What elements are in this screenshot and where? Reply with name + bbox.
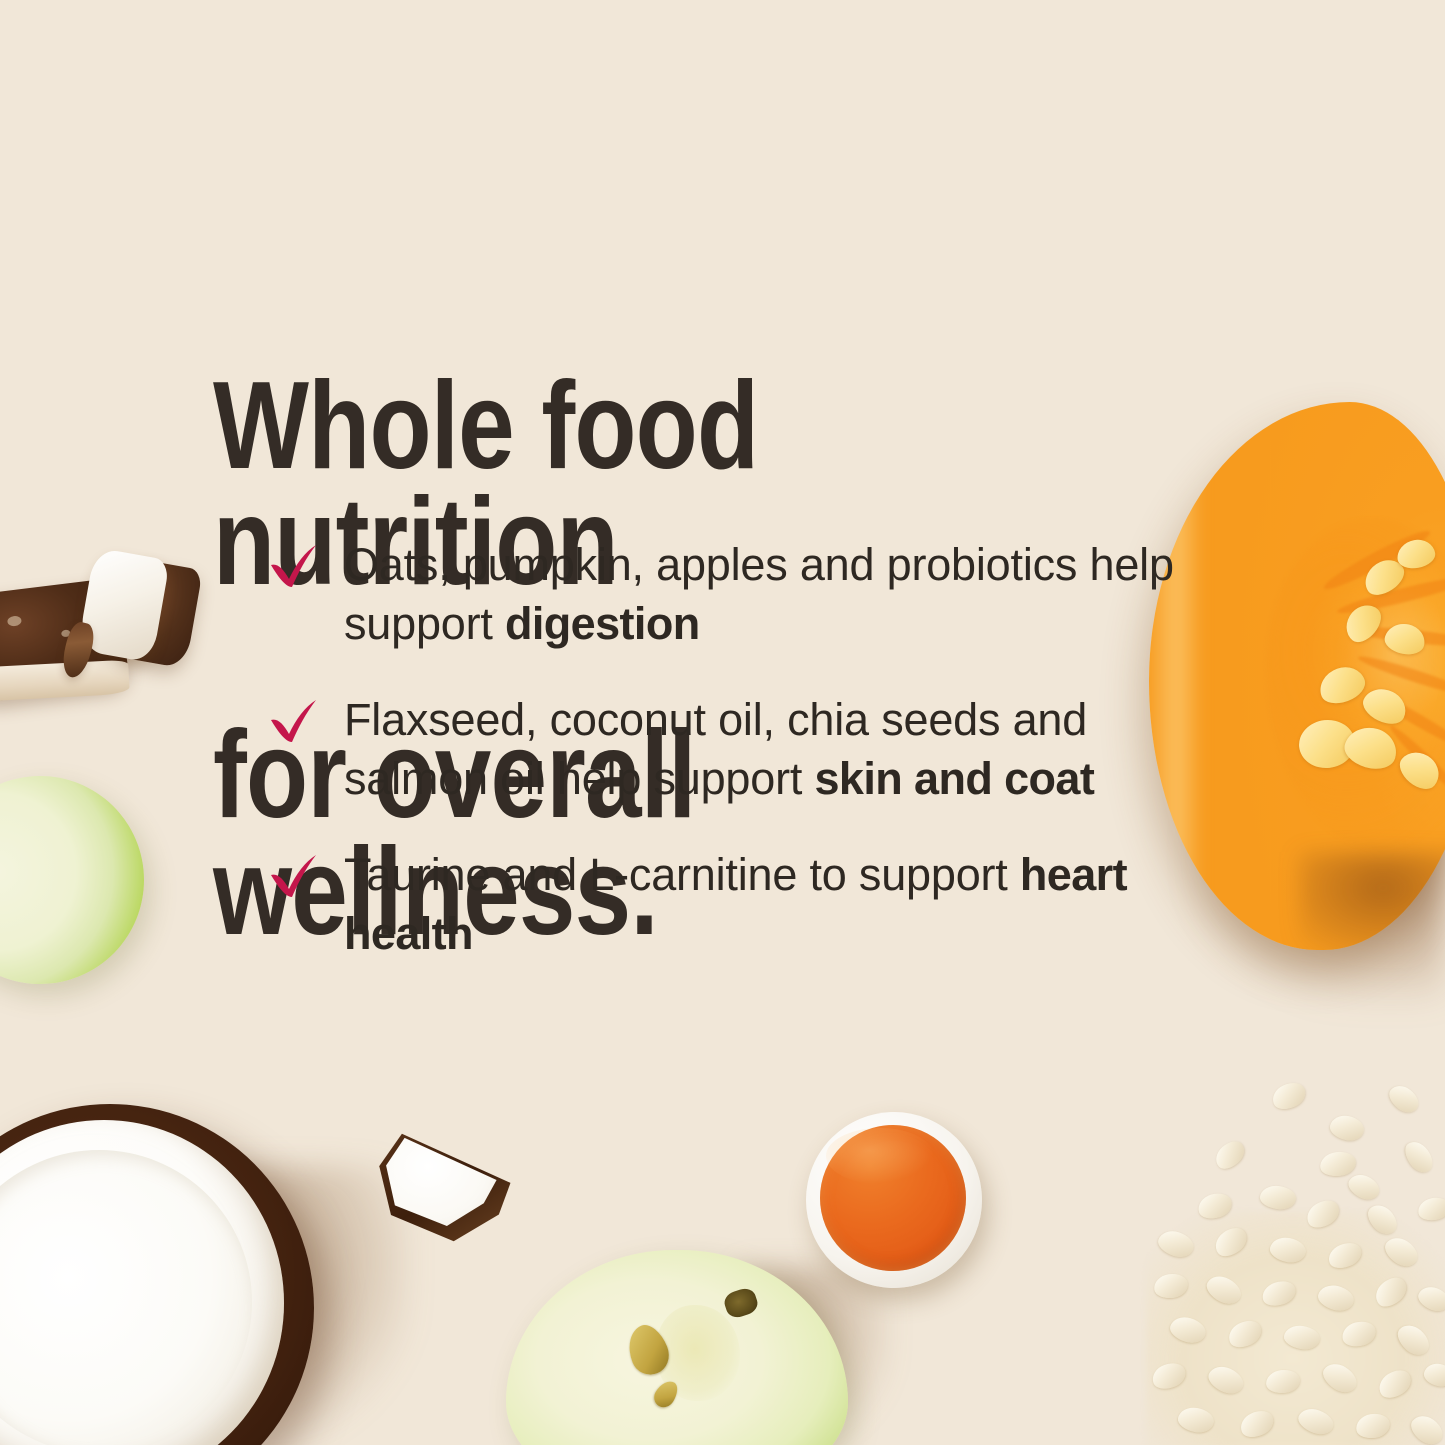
oat-flake <box>1152 1272 1189 1300</box>
oat-flake <box>1295 1405 1337 1439</box>
green-apple-slice-image <box>0 766 154 995</box>
oat-flake <box>1155 1227 1197 1261</box>
checkmark-icon <box>268 852 320 900</box>
oat-flake <box>1302 1195 1343 1233</box>
oat-flake <box>1370 1272 1411 1312</box>
oat-flake <box>1205 1362 1248 1399</box>
oat-flake <box>1340 1318 1379 1350</box>
oat-flake <box>1210 1222 1252 1261</box>
benefit-text-emphasis: skin and coat <box>814 753 1094 804</box>
apple-slice-skin <box>0 766 154 995</box>
oat-flake <box>1202 1271 1245 1309</box>
coconut-half-image <box>0 1104 314 1445</box>
benefit-text: Taurine and L-carnitine to support heart… <box>344 849 1127 959</box>
oat-flake <box>1237 1406 1278 1442</box>
list-item: Taurine and L-carnitine to support heart… <box>268 846 1208 963</box>
oat-flake <box>1283 1324 1322 1352</box>
oat-flake <box>1325 1238 1365 1272</box>
oat-flake <box>1392 1319 1434 1360</box>
oat-flake <box>1195 1190 1234 1222</box>
oat-flake <box>1354 1411 1392 1441</box>
oat-flake <box>1363 1200 1402 1240</box>
list-item: Oats, pumpkin, apples and probiotics hel… <box>268 536 1208 653</box>
promo-banner: Whole food nutrition for overall wellnes… <box>0 0 1445 1445</box>
benefit-text-emphasis: digestion <box>505 598 700 649</box>
oat-flake <box>1224 1316 1265 1352</box>
oat-flake <box>1316 1282 1357 1314</box>
rolled-oats-image <box>1152 1082 1445 1445</box>
oat-flake <box>1422 1361 1445 1389</box>
coconut-flake-image <box>374 1121 520 1248</box>
oat-flake <box>1415 1283 1445 1315</box>
oat-flake <box>1345 1170 1383 1204</box>
oat-flake <box>1149 1359 1189 1393</box>
oat-flake <box>1380 1232 1422 1271</box>
oat-flake <box>1416 1195 1445 1223</box>
checkmark-icon <box>268 542 320 590</box>
oat-flake <box>1328 1113 1366 1144</box>
oat-flake <box>1385 1080 1424 1117</box>
oil-sheen <box>826 1128 934 1184</box>
oat-flake <box>1268 1235 1308 1265</box>
oat-flake <box>1406 1410 1445 1445</box>
oat-flake <box>1265 1368 1301 1394</box>
oat-flake <box>1400 1137 1438 1177</box>
pumpkin-inner-shadow <box>1299 852 1445 950</box>
benefit-text: Flaxseed, coconut oil, chia seeds and sa… <box>344 694 1094 804</box>
oat-flake <box>1374 1365 1416 1403</box>
oat-flake <box>1319 1150 1358 1179</box>
oat-flake <box>1211 1136 1250 1174</box>
oat-flake <box>1259 1184 1297 1211</box>
oat-flake <box>1259 1277 1298 1309</box>
oat-flake <box>1176 1405 1216 1435</box>
oat-flake <box>1167 1314 1208 1347</box>
benefit-text-plain: Oats, pumpkin, apples and probiotics hel… <box>344 539 1174 649</box>
coconut-chunk-white-image <box>76 547 203 672</box>
benefits-list: Oats, pumpkin, apples and probiotics hel… <box>268 536 1208 963</box>
list-item: Flaxseed, coconut oil, chia seeds and sa… <box>268 691 1208 808</box>
benefit-text: Oats, pumpkin, apples and probiotics hel… <box>344 539 1174 649</box>
benefit-text-plain: Taurine and L-carnitine to support <box>344 849 1020 900</box>
checkmark-icon <box>268 697 320 745</box>
oat-flake <box>1269 1078 1310 1114</box>
oat-flake <box>1318 1358 1361 1397</box>
green-apple-half-image <box>506 1250 848 1445</box>
